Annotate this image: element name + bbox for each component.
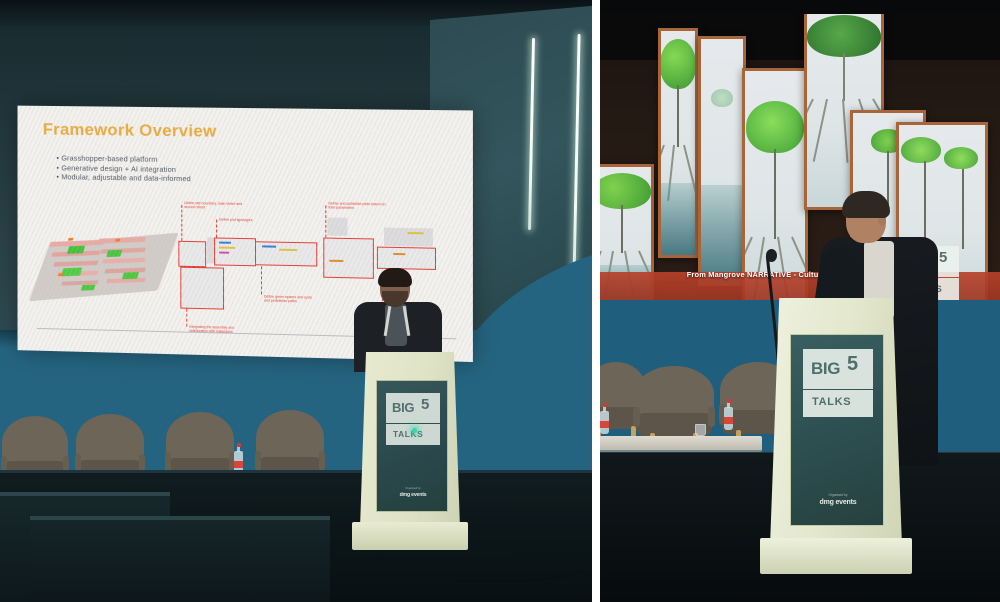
logo-big-text: BIG [392,400,414,415]
stage-block [30,516,330,602]
workflow-callout: Define and subdivide plots based on thei… [328,201,387,211]
watermark-number-text: 5 [939,249,947,266]
podium-screen: BIG 5 TALKS Organised by dmg events [376,380,448,512]
stage-edge [0,470,592,473]
logo-big-text: BIG [811,359,840,379]
dmg-events-logo: dmg events [791,499,885,506]
workflow-node-group [178,241,206,267]
workflow-callout: Define green spaces and cycle and pedest… [264,294,318,304]
photo-collage: Framework Overview Grasshopper-based pla… [0,0,1000,602]
podium: BIG 5 TALKS Organised by dmg events [352,352,468,550]
podium-closeup: BIG 5 TALKS Organised by dmg events [760,298,912,578]
workflow-callout: Define site boundary, main street and se… [184,201,244,211]
logo-talks-text: TALKS [393,429,423,439]
logo-number-text: 5 [421,396,429,413]
mangrove-artwork-panel [698,36,746,286]
photo-panel-stage-wide: Framework Overview Grasshopper-based pla… [0,0,592,602]
slide-bullet: Modular, adjustable and data-informed [56,172,190,184]
workflow-node-group [377,247,436,270]
logo-number-text: 5 [847,353,858,376]
workflow-thumb [327,217,347,235]
dmg-text: dmg events [400,492,427,498]
podium-screen: BIG 5 TALKS Organised by dmg events [790,334,884,526]
dmg-events-logo: dmg events [377,492,449,498]
organised-by-label: Organised by [377,487,449,490]
workflow-thumb [384,228,433,247]
led-video-wall: From Mangrove NARRATIVE - Cultural Found… [600,14,1000,306]
mangrove-artwork-panel [658,28,698,258]
logo-talks-text: TALKS [812,396,851,408]
big5-talks-logo: BIG 5 TALKS [386,393,440,445]
workflow-node-group [180,267,224,310]
slide-title: Framework Overview [43,120,217,142]
water-bottle [724,400,733,430]
panel-divider [592,0,600,602]
standby-light-icon [412,428,417,433]
slide-bullet-list: Grasshopper-based platform Generative de… [56,153,190,184]
organised-by-label: Organised by [791,493,885,497]
masterplan-3d-model [39,216,169,318]
dmg-text: dmg events [820,499,857,506]
microphone-icon [766,249,777,262]
water-bottle [600,404,609,434]
workflow-callout: Define plot typologies [219,218,252,223]
drinking-glass [695,424,706,436]
big5-talks-logo: BIG 5 TALKS [803,349,873,417]
